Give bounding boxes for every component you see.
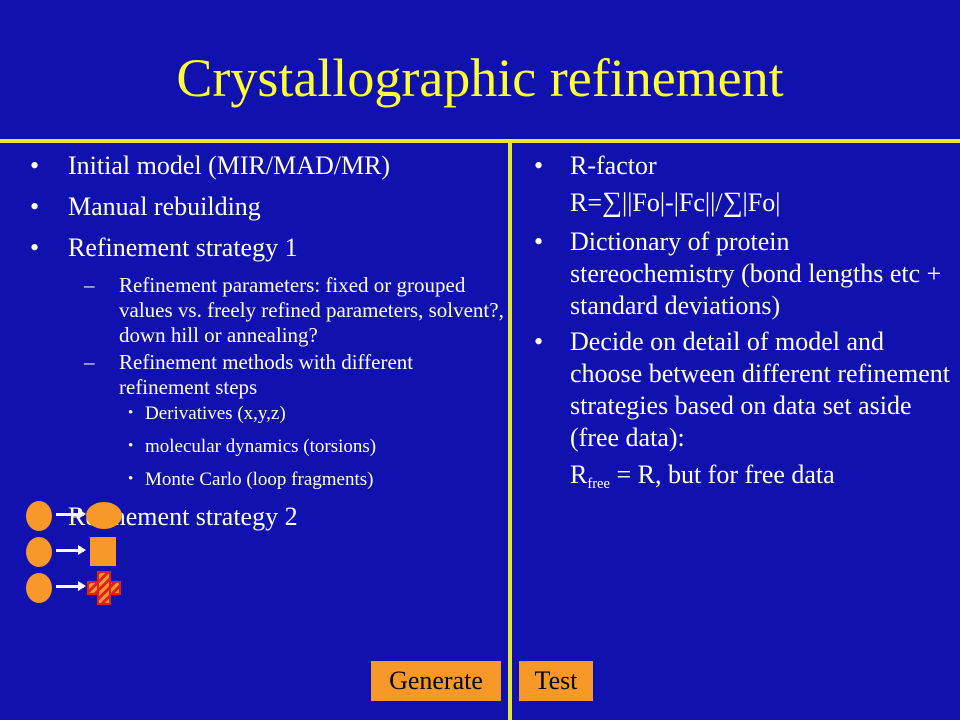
list-item-label: Initial model (MIR/MAD/MR) [68, 151, 390, 180]
list-item: • R-factor [512, 150, 960, 182]
list-item-label: Refinement strategy 1 [68, 233, 298, 262]
formula-lhs: R= [570, 188, 602, 217]
list-item-label: Dictionary of protein stereochemistry (b… [570, 227, 941, 320]
bullet-marker-icon: • [534, 226, 543, 258]
icon-row-monte-carlo [24, 569, 124, 605]
bullet-marker-icon: • [30, 150, 39, 182]
left-column: • Initial model (MIR/MAD/MR) • Manual re… [0, 150, 508, 542]
bullet-marker-icon: • [128, 435, 133, 458]
orange-wide-oval-icon [86, 502, 122, 529]
dash-marker-icon: – [84, 350, 95, 375]
list-item-label: Derivatives (x,y,z) [145, 403, 286, 424]
bullet-marker-icon: • [534, 326, 543, 358]
right-arrow-icon [56, 585, 84, 588]
orange-red-striped-cross-icon [86, 570, 122, 606]
orange-oval-icon [26, 537, 52, 567]
list-item-label: Decide on detail of model and choose bet… [570, 327, 950, 452]
process-icon-diagram [24, 497, 124, 607]
list-item: • Initial model (MIR/MAD/MR) [0, 150, 508, 182]
list-item: • Manual rebuilding [0, 191, 508, 223]
formula-mid: ||Fo|-|Fc||/ [622, 188, 723, 217]
generate-button[interactable]: Generate [371, 661, 501, 701]
formula-rest: = R, but for free data [610, 460, 835, 489]
bullet-marker-icon: • [30, 191, 39, 223]
summation-symbol-icon: ∑ [723, 187, 743, 218]
list-item: • Dictionary of protein stereochemistry … [512, 226, 960, 322]
list-item: • Refinement strategy 1 [0, 232, 508, 264]
bullet-marker-icon: • [128, 468, 133, 491]
list-item: • Derivatives (x,y,z) [0, 402, 508, 425]
list-item-label: Monte Carlo (loop fragments) [145, 469, 373, 490]
r-factor-formula: R=∑||Fo|-|Fc||/∑|Fo| [512, 186, 960, 220]
slide: Crystallographic refinement • Initial mo… [0, 0, 960, 720]
orange-oval-icon [26, 573, 52, 603]
formula-base: R [570, 460, 587, 489]
title-band: Crystallographic refinement [0, 0, 960, 139]
summation-symbol-icon: ∑ [602, 187, 622, 218]
list-item-label: R-factor [570, 151, 657, 180]
list-item-label: Refinement parameters: fixed or grouped … [119, 273, 504, 347]
icon-row-derivatives [24, 497, 124, 533]
right-arrow-icon [56, 513, 84, 516]
left-bullet-list: • Initial model (MIR/MAD/MR) • Manual re… [0, 150, 508, 533]
dash-marker-icon: – [84, 273, 95, 298]
list-item: • Monte Carlo (loop fragments) [0, 468, 508, 491]
list-item-label: molecular dynamics (torsions) [145, 436, 376, 457]
list-item: • Decide on detail of model and choose b… [512, 326, 960, 454]
bullet-marker-icon: • [534, 150, 543, 182]
right-bullet-list: • R-factor R=∑||Fo|-|Fc||/∑|Fo| • Dictio… [512, 150, 960, 496]
list-item: – Refinement parameters: fixed or groupe… [0, 273, 508, 348]
orange-oval-icon [26, 501, 52, 531]
list-item-label: Manual rebuilding [68, 192, 261, 221]
right-column: • R-factor R=∑||Fo|-|Fc||/∑|Fo| • Dictio… [512, 150, 960, 502]
page-title: Crystallographic refinement [0, 48, 960, 108]
list-item-label: Refinement methods with different refine… [119, 350, 413, 399]
formula-subscript: free [587, 476, 610, 492]
orange-square-icon [90, 537, 116, 566]
formula-rhs: |Fo| [743, 188, 781, 217]
list-item: – Refinement methods with different refi… [0, 350, 508, 400]
list-item: • molecular dynamics (torsions) [0, 435, 508, 458]
horizontal-divider [0, 139, 960, 143]
cross-vertical-bar [97, 571, 111, 605]
icon-row-molecular-dynamics [24, 533, 124, 569]
right-arrow-icon [56, 549, 84, 552]
bullet-marker-icon: • [30, 232, 39, 264]
bullet-marker-icon: • [128, 402, 133, 425]
test-button[interactable]: Test [519, 661, 593, 701]
rfree-formula: Rfree = R, but for free data [512, 458, 960, 496]
